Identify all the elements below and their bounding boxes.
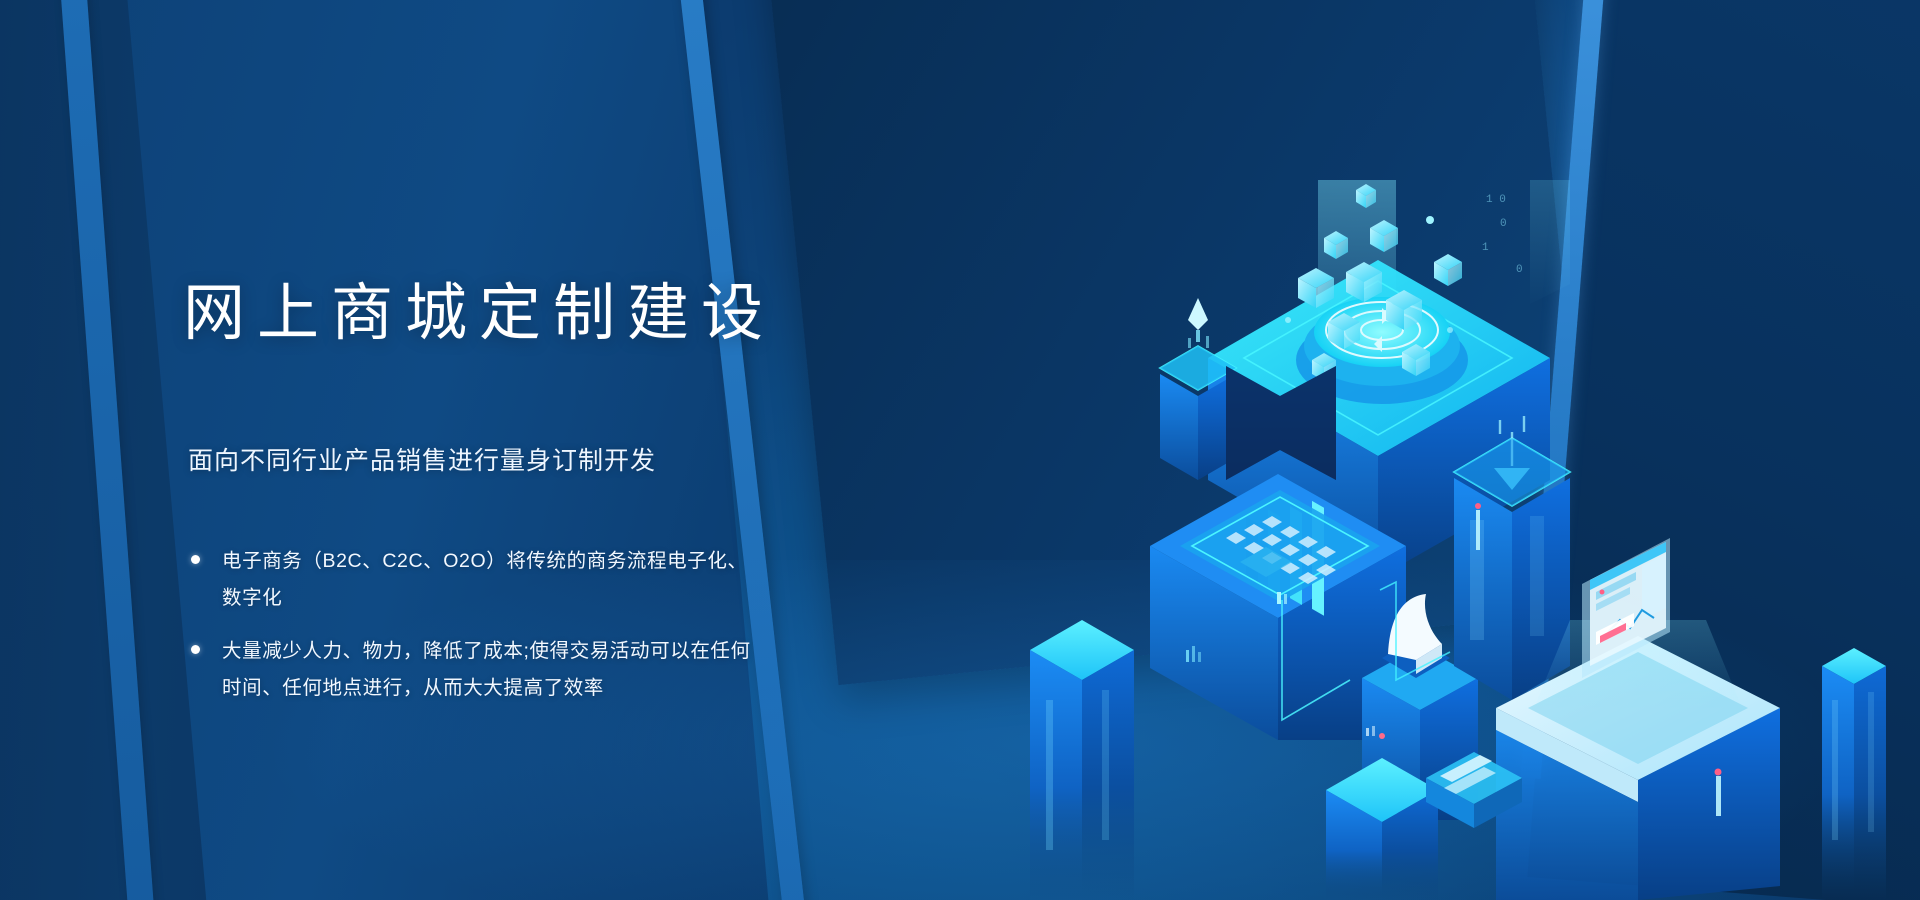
svg-text:1: 1 [1482, 242, 1489, 254]
illus-pillar-left [1030, 620, 1134, 900]
list-item-label: 电子商务（B2C、C2C、O2O）将传统的商务流程电子化、数字化 [222, 550, 748, 609]
page-title: 网上商城定制建设 [183, 283, 775, 345]
illus-rocket-tower [1160, 298, 1236, 480]
svg-text:0: 0 [1516, 264, 1523, 276]
bullet-dot-icon [191, 555, 200, 564]
list-item-label: 大量减少人力、物力，降低了成本;使得交易活动可以在任何时间、任何地点进行，从而大… [222, 640, 751, 699]
list-item: 电子商务（B2C、C2C、O2O）将传统的商务流程电子化、数字化 [186, 543, 766, 617]
hero-banner: 1 0 0 1 0 网上商城定制建设 面向不同行业产品销售进行量身订制开发 电子… [0, 0, 1920, 900]
hero-copy: 网上商城定制建设 面向不同行业产品销售进行量身订制开发 电子商务（B2C、C2C… [0, 0, 860, 900]
svg-text:0: 0 [1500, 218, 1507, 230]
illus-right-pillars [1822, 648, 1886, 900]
svg-text:1 0: 1 0 [1486, 194, 1506, 206]
bullet-dot-icon [191, 645, 200, 654]
feature-list: 电子商务（B2C、C2C、O2O）将传统的商务流程电子化、数字化 大量减少人力、… [186, 543, 766, 723]
page-subtitle: 面向不同行业产品销售进行量身订制开发 [188, 449, 656, 474]
illus-binary-rain: 1 0 0 1 0 [1482, 194, 1523, 276]
hero-illustration: 1 0 0 1 0 [1030, 180, 1920, 900]
list-item: 大量减少人力、物力，降低了成本;使得交易活动可以在任何时间、任何地点进行，从而大… [186, 633, 766, 707]
